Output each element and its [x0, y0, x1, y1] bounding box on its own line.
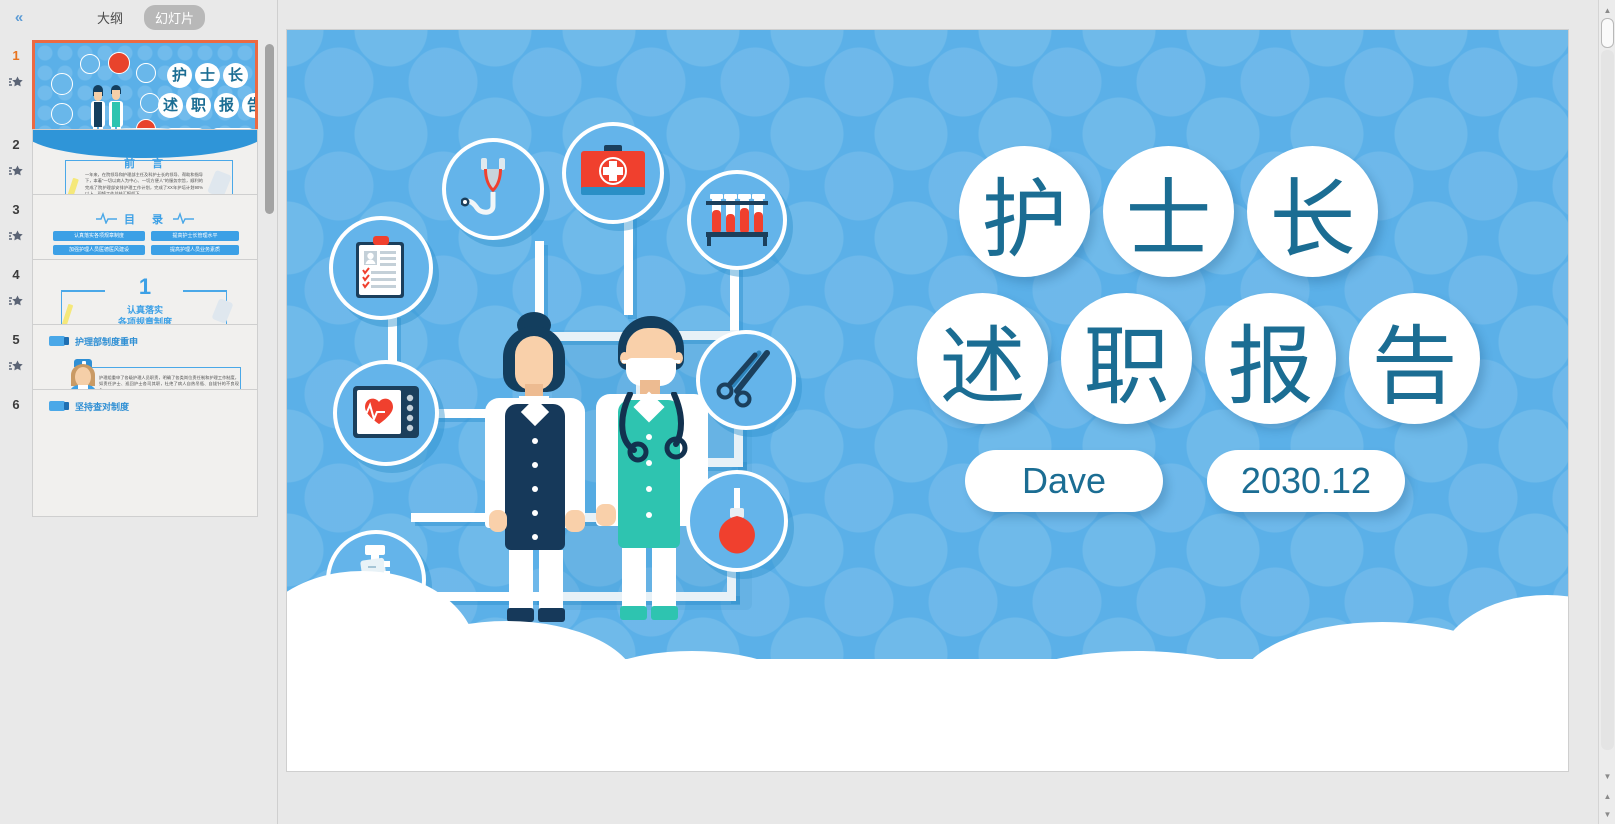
slide-meta-5: 5 — [0, 324, 32, 375]
title-char-circle: 护 — [959, 146, 1090, 277]
collapse-panel-button[interactable]: « — [0, 9, 30, 26]
animation-star-icon — [0, 359, 32, 375]
mini-section-number: 1 — [33, 274, 257, 300]
mini-toc-item: 认真落实各项规章制度 — [53, 231, 145, 241]
mini-title-char: 述 — [158, 93, 183, 118]
slide-number: 3 — [0, 202, 32, 217]
slide-meta-6: 6 — [0, 389, 32, 412]
bus-icon — [49, 401, 65, 411]
title-char-circle: 士 — [1103, 146, 1234, 277]
author-pill: Dave — [965, 450, 1163, 512]
thumbnail-row-5[interactable]: 5 护理部制度重申 — [0, 320, 278, 381]
thumbnail-scroll-area[interactable]: 1 — [0, 34, 278, 824]
animation-star-icon — [0, 294, 32, 310]
thumbnail-row-2[interactable]: 2 前 言 — [0, 125, 278, 186]
surgical-scissors-icon — [696, 330, 796, 430]
animation-star-icon — [0, 229, 32, 245]
heart-monitor-icon — [333, 360, 439, 466]
clipboard-patient-chart-icon — [329, 216, 433, 320]
slide-meta-3: 3 — [0, 194, 32, 245]
mini-title-char: 职 — [186, 93, 211, 118]
thumbnail-row-1[interactable]: 1 — [0, 34, 278, 97]
tab-outline[interactable]: 大纲 — [86, 5, 134, 30]
slide-number: 6 — [0, 397, 32, 412]
mini-toc-item: 提高护理人员业务素质 — [151, 245, 239, 255]
title-char-circle: 述 — [917, 293, 1048, 424]
main-vertical-scrollbar[interactable]: ▲ ▼ ▲ ▼ — [1598, 0, 1615, 824]
date-pill: 2030.12 — [1207, 450, 1405, 512]
slide-title-block: 护 士 长 述 职 报 告 Dave 2030.12 — [959, 146, 1559, 512]
rubber-bulb-syringe-icon — [686, 470, 788, 572]
mini-title-char: 护 — [167, 63, 192, 88]
subtitle-row: Dave 2030.12 — [965, 450, 1559, 512]
scroll-prev-slide-arrow[interactable]: ▲ — [1599, 788, 1615, 804]
mini-heading: 前 言 — [33, 155, 257, 171]
mini-heading: 护理部制度重申 — [75, 335, 138, 348]
tab-slides[interactable]: 幻灯片 — [144, 5, 205, 30]
slide-thumbnail-6[interactable]: 坚持查对制度 — [32, 389, 258, 517]
title-char-circle: 长 — [1247, 146, 1378, 277]
scrollbar-thumb[interactable] — [1601, 18, 1614, 48]
mini-toc-item: 加强护理人员医德医风建设 — [53, 245, 145, 255]
thumbnail-row-6[interactable]: 6 坚持查对制度 — [0, 385, 278, 418]
slide-number: 5 — [0, 332, 32, 347]
mini-heading: 坚持查对制度 — [75, 400, 129, 413]
title-row-1: 护 士 长 — [959, 146, 1559, 277]
scroll-down-arrow[interactable]: ▼ — [1599, 768, 1615, 784]
scroll-up-arrow[interactable]: ▲ — [1599, 2, 1615, 18]
thumbnail-row-4[interactable]: 4 — [0, 255, 278, 316]
title-row-2: 述 职 报 告 — [917, 293, 1559, 424]
slide-meta-4: 4 — [0, 259, 32, 310]
panel-header: « 大纲 幻灯片 — [0, 0, 278, 34]
bus-icon — [49, 336, 65, 346]
animation-star-icon — [0, 75, 32, 91]
test-tube-rack-icon — [687, 170, 787, 270]
slide-number: 2 — [0, 137, 32, 152]
mini-toc-item: 提高护士长管理水平 — [151, 231, 239, 241]
mini-title-char: 报 — [214, 93, 239, 118]
title-char-circle: 报 — [1205, 293, 1336, 424]
slide-editor-stage[interactable]: 护 士 长 述 职 报 告 Dave 2030.12 — [278, 0, 1615, 824]
mini-title-char: 长 — [223, 63, 248, 88]
slide-meta-2: 2 — [0, 129, 32, 180]
mini-heading: 目 录 — [33, 211, 257, 227]
panel-tabs: 大纲 幻灯片 — [86, 5, 205, 30]
stethoscope-icon — [442, 138, 544, 240]
animation-star-icon — [0, 164, 32, 180]
nurse-figure — [477, 312, 597, 622]
title-char-circle: 职 — [1061, 293, 1192, 424]
scrollbar-track[interactable] — [1601, 50, 1614, 750]
title-char-circle: 告 — [1349, 293, 1480, 424]
thumbnail-row-3[interactable]: 3 目 录 — [0, 190, 278, 251]
slide-number: 4 — [0, 267, 32, 282]
first-aid-kit-icon — [562, 122, 664, 224]
scroll-next-slide-arrow[interactable]: ▼ — [1599, 806, 1615, 822]
doctor-figure — [592, 308, 717, 624]
slide-number: 1 — [0, 48, 32, 63]
current-slide-canvas[interactable]: 护 士 长 述 职 报 告 Dave 2030.12 — [287, 30, 1568, 771]
mini-title-char: 士 — [195, 63, 220, 88]
slide-thumbnail-panel: « 大纲 幻灯片 1 — [0, 0, 278, 824]
thumbnail-scrollbar-thumb[interactable] — [265, 44, 274, 214]
slide-meta-1: 1 — [0, 40, 32, 91]
